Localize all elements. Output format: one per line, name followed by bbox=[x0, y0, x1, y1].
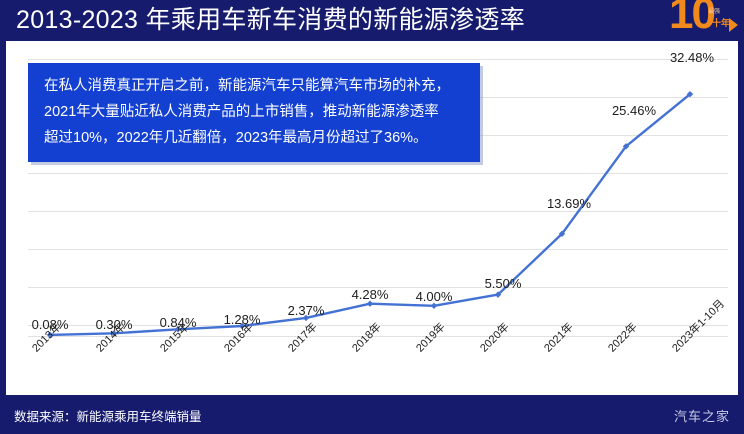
annotation-line: 2021年大量贴近私人消费产品的上市销售，推动新能源渗透率 bbox=[44, 99, 466, 125]
ten-year-logo: 10 最强 十年 bbox=[644, 0, 740, 44]
chart-plot-area: 0.08% 0.30% 0.84% 1.28% 2.37% 4.28% 4.00… bbox=[6, 41, 738, 395]
data-label: 4.28% bbox=[352, 287, 389, 302]
title-bar: 2013-2023 年乘用车新车消费的新能源渗透率 10 最强 十年 bbox=[0, 0, 744, 40]
watermark-label: 汽车之家 bbox=[674, 406, 730, 425]
page-title: 2013-2023 年乘用车新车消费的新能源渗透率 bbox=[16, 4, 525, 37]
footer-bar: 数据来源：新能源乘用车终端销量 汽车之家 bbox=[0, 395, 744, 434]
logo-small-label: 最强 bbox=[708, 9, 720, 16]
data-label: 25.46% bbox=[612, 103, 656, 118]
annotation-callout: 在私人消费真正开启之前，新能源汽车只能算汽车市场的补充， 2021年大量贴近私人… bbox=[28, 63, 480, 162]
data-label: 4.00% bbox=[416, 289, 453, 304]
data-label: 2.37% bbox=[288, 303, 325, 318]
data-label: 13.69% bbox=[547, 196, 591, 211]
data-source-text: 数据来源：新能源乘用车终端销量 bbox=[14, 406, 202, 425]
logo-number: 10 bbox=[669, 0, 714, 38]
logo-label: 十年 bbox=[712, 18, 730, 28]
infographic-poster: 2013-2023 年乘用车新车消费的新能源渗透率 10 最强 十年 0.08%… bbox=[0, 0, 744, 434]
data-label: 5.50% bbox=[485, 276, 522, 291]
data-label: 32.48% bbox=[670, 50, 714, 65]
annotation-line: 超过10%，2022年几近翻倍，2023年最高月份超过了36%。 bbox=[44, 125, 466, 151]
annotation-line: 在私人消费真正开启之前，新能源汽车只能算汽车市场的补充， bbox=[44, 73, 466, 99]
arrow-right-icon bbox=[729, 18, 738, 32]
